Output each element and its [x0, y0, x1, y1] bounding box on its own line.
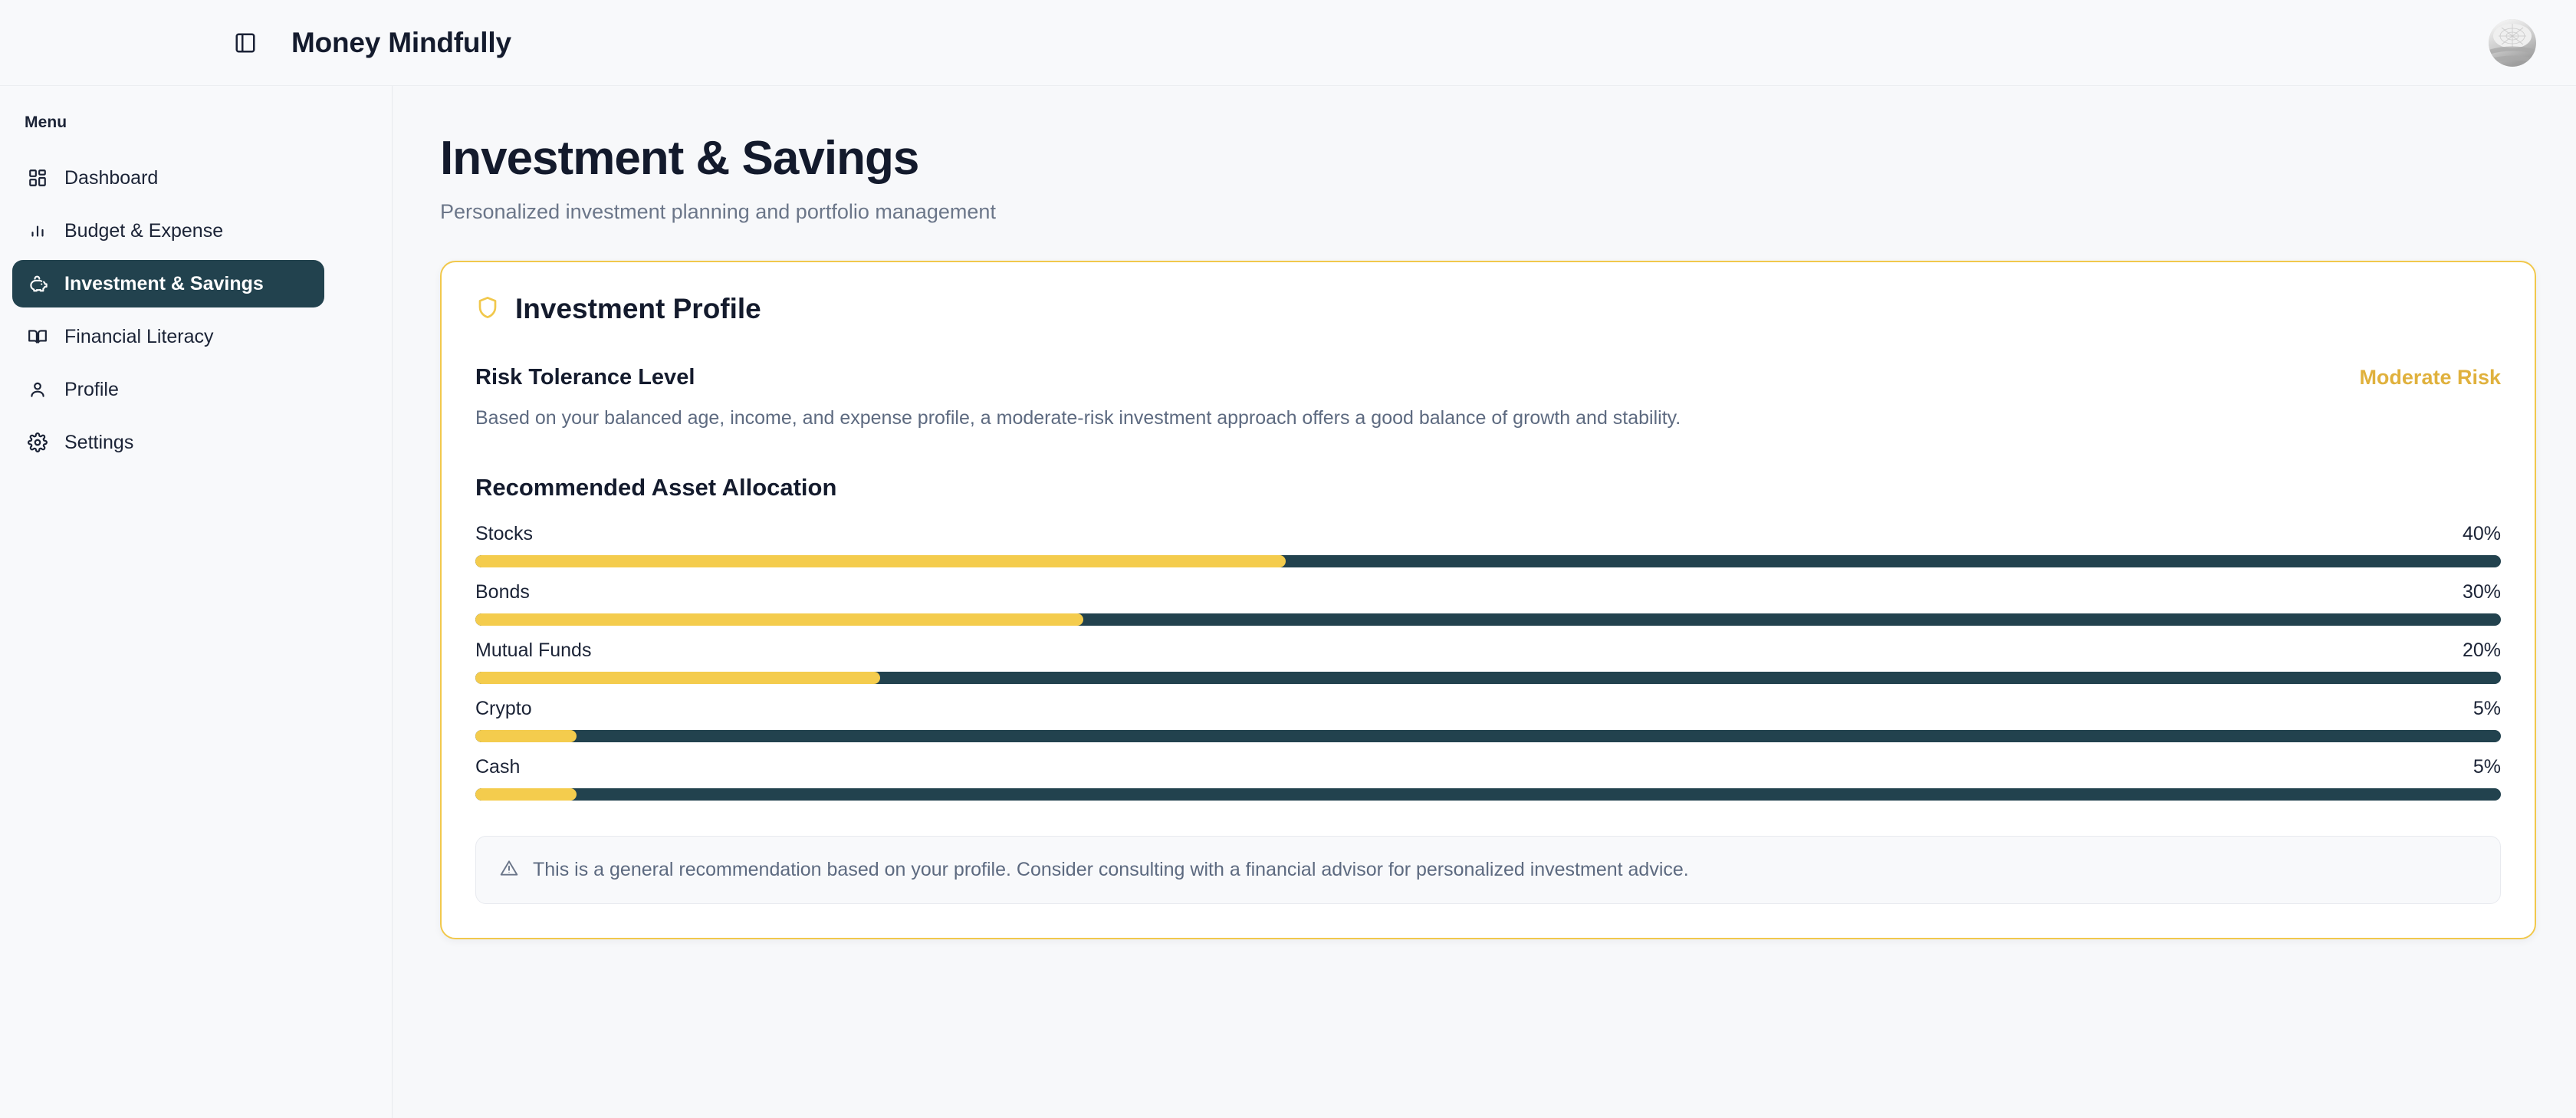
risk-tolerance-header: Risk Tolerance Level Moderate Risk: [475, 365, 2501, 390]
allocation-label: Mutual Funds: [475, 640, 591, 662]
allocation-value: 20%: [2463, 640, 2501, 662]
sidebar-item-settings[interactable]: Settings: [12, 419, 324, 466]
allocation-bar-track: [475, 672, 2501, 684]
list-item: Stocks 40%: [475, 523, 2501, 567]
allocation-bar-track: [475, 788, 2501, 801]
allocation-label: Crypto: [475, 698, 532, 720]
top-header-bar: Money Mindfully: [0, 0, 2576, 86]
avatar[interactable]: [2489, 19, 2536, 67]
page-title: Investment & Savings: [440, 133, 2536, 183]
sidebar-item-label: Investment & Savings: [64, 273, 264, 295]
list-item: Mutual Funds 20%: [475, 640, 2501, 684]
sidebar-item-label: Financial Literacy: [64, 326, 214, 348]
allocation-value: 30%: [2463, 581, 2501, 603]
disclaimer-note: This is a general recommendation based o…: [475, 836, 2501, 904]
shield-icon: [475, 295, 500, 324]
warning-triangle-icon: [499, 858, 519, 882]
sidebar: Menu Dashboard Budget & Expense: [0, 86, 393, 1118]
allocation-bar-track: [475, 613, 2501, 626]
piggy-bank-icon: [25, 271, 51, 297]
allocation-title: Recommended Asset Allocation: [475, 474, 2501, 501]
sidebar-menu-label: Menu: [0, 113, 392, 149]
sidebar-toggle-icon[interactable]: [230, 28, 261, 58]
sidebar-item-label: Profile: [64, 379, 119, 401]
sidebar-item-label: Settings: [64, 432, 133, 454]
investment-profile-card: Investment Profile Risk Tolerance Level …: [440, 261, 2536, 939]
status-badge: Moderate Risk: [2359, 366, 2501, 390]
app-body: Menu Dashboard Budget & Expense: [0, 86, 2576, 1118]
allocation-bar-track: [475, 730, 2501, 742]
sidebar-item-profile[interactable]: Profile: [12, 366, 324, 413]
disclaimer-text: This is a general recommendation based o…: [533, 859, 1689, 881]
allocation-bar-fill: [475, 613, 1083, 626]
app-root: Money Mindfully: [0, 0, 2576, 1118]
main-content: Investment & Savings Personalized invest…: [393, 86, 2576, 1118]
allocation-label: Cash: [475, 756, 520, 778]
sidebar-item-label: Budget & Expense: [64, 220, 223, 242]
book-open-icon: [25, 324, 51, 350]
user-icon: [25, 377, 51, 403]
sidebar-item-budget-expense[interactable]: Budget & Expense: [12, 207, 324, 255]
allocation-value: 5%: [2473, 756, 2501, 778]
allocation-value: 5%: [2473, 698, 2501, 720]
bar-chart-icon: [25, 218, 51, 244]
risk-tolerance-title: Risk Tolerance Level: [475, 365, 695, 390]
card-title: Investment Profile: [515, 293, 761, 325]
allocation-value: 40%: [2463, 523, 2501, 545]
allocation-bar-fill: [475, 788, 577, 801]
gear-icon: [25, 429, 51, 455]
allocation-bar-track: [475, 555, 2501, 567]
app-brand-title: Money Mindfully: [291, 27, 511, 59]
list-item: Crypto 5%: [475, 698, 2501, 742]
allocation-bar-fill: [475, 555, 1286, 567]
page-subtitle: Personalized investment planning and por…: [440, 200, 2536, 224]
sidebar-item-dashboard[interactable]: Dashboard: [12, 154, 324, 202]
card-header: Investment Profile: [475, 293, 2501, 325]
list-item: Bonds 30%: [475, 581, 2501, 626]
allocation-bar-fill: [475, 672, 880, 684]
allocation-list: Stocks 40% Bonds 30%: [475, 523, 2501, 801]
list-item: Cash 5%: [475, 756, 2501, 801]
allocation-label: Stocks: [475, 523, 533, 545]
sidebar-item-investment-savings[interactable]: Investment & Savings: [12, 260, 324, 307]
risk-description: Based on your balanced age, income, and …: [475, 407, 2501, 429]
sidebar-item-label: Dashboard: [64, 167, 158, 189]
allocation-bar-fill: [475, 730, 577, 742]
allocation-label: Bonds: [475, 581, 530, 603]
grid-icon: [25, 165, 51, 191]
sidebar-item-financial-literacy[interactable]: Financial Literacy: [12, 313, 324, 360]
